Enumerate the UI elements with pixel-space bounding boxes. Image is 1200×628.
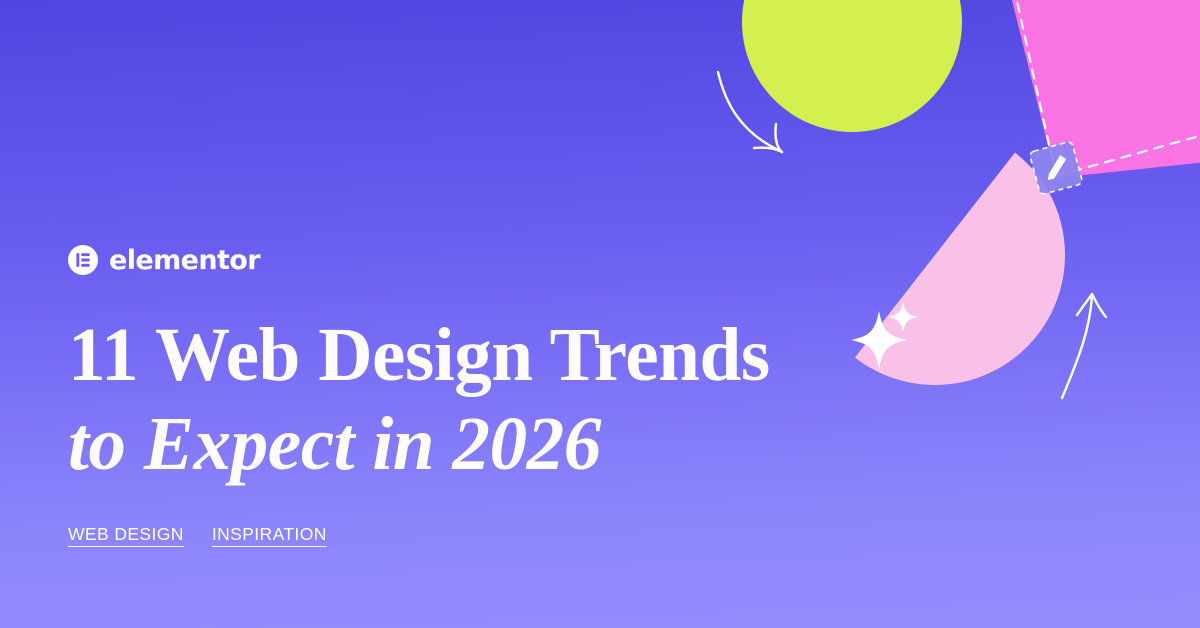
badge-background bbox=[1029, 141, 1083, 195]
elementor-logo-icon bbox=[68, 245, 98, 275]
selection-handle-badge[interactable] bbox=[1029, 141, 1083, 195]
category-tag-inspiration[interactable]: INSPIRATION bbox=[212, 525, 327, 547]
headline-line-2: to Expect in 2026 bbox=[68, 402, 880, 487]
green-circle bbox=[742, 0, 962, 132]
arrow-up-curved-icon bbox=[1062, 294, 1106, 398]
sparkle-small bbox=[888, 302, 918, 332]
pink-semicircle bbox=[855, 153, 1118, 438]
category-tag-list: WEB DESIGN INSPIRATION bbox=[68, 525, 888, 547]
pencil-icon bbox=[1048, 155, 1066, 180]
selection-outline bbox=[1010, 0, 1200, 176]
banner-content: elementor 11 Web Design Trends to Expect… bbox=[68, 243, 888, 547]
brand-lockup[interactable]: elementor bbox=[68, 243, 888, 277]
brand-name: elementor bbox=[109, 247, 260, 274]
category-tag-web-design[interactable]: WEB DESIGN bbox=[68, 525, 184, 547]
social-share-banner: elementor 11 Web Design Trends to Expect… bbox=[0, 0, 1200, 628]
headline-line-1: 11 Web Design Trends bbox=[68, 313, 880, 398]
page-title: 11 Web Design Trends to Expect in 2026 bbox=[68, 313, 888, 487]
arrow-down-right-icon bbox=[718, 72, 782, 152]
magenta-rectangle bbox=[1002, 0, 1200, 178]
